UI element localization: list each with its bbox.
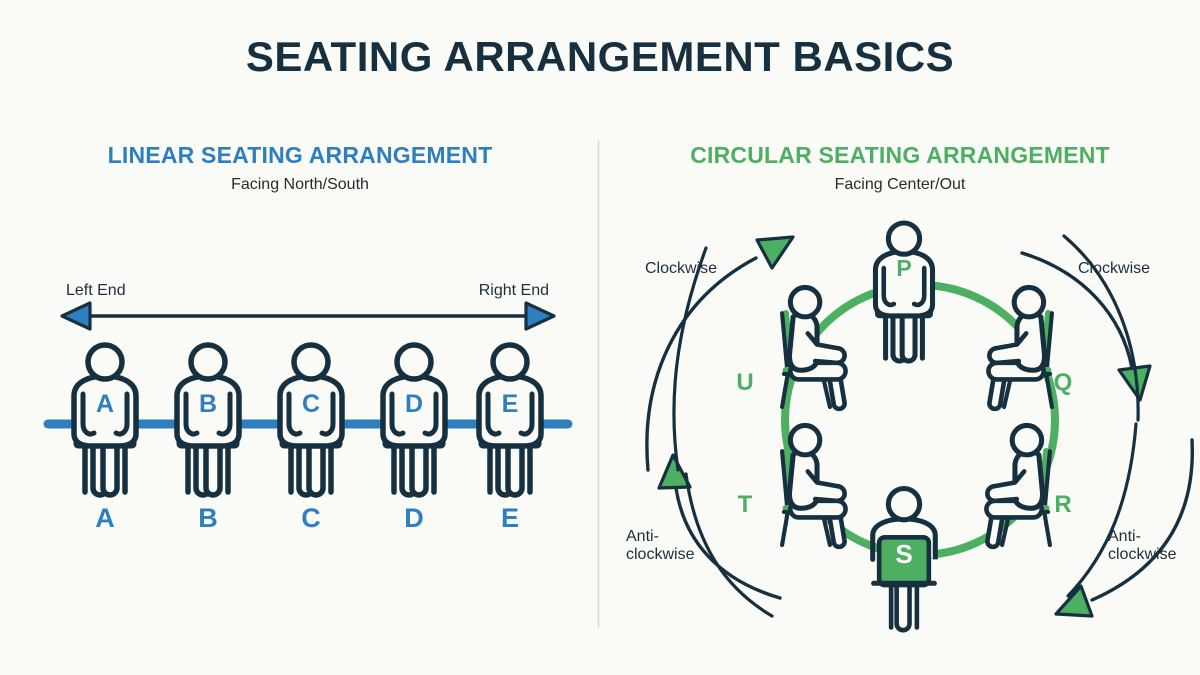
seat-letter-u: U [736, 369, 753, 396]
left-right-axis-arrow [62, 303, 554, 329]
arrow-head-left-icon [62, 303, 90, 329]
circular-seat-figure-r: R [986, 425, 1071, 546]
seat-body-letter-c: C [302, 390, 320, 418]
seat-body-letter-a: A [96, 390, 114, 418]
seat-letter-t: T [738, 491, 753, 518]
arrow-head-right-icon [526, 303, 554, 329]
seat-letter-s: S [895, 539, 912, 569]
diagram-canvas: SEATING ARRANGEMENT BASICS LINEAR SEATIN… [0, 0, 1200, 675]
circular-seat-figure-q: Q [988, 287, 1072, 408]
seat-letter-r: R [1054, 491, 1071, 518]
linear-seat-figure-b: B [177, 345, 239, 495]
seat-body-letter-e: E [502, 390, 519, 418]
inner-arc-right-upper [1064, 236, 1138, 420]
arrow-head-cw-left-icon [757, 237, 793, 268]
circular-arrangement-group: P Q R S T [647, 223, 1192, 630]
linear-arrangement-group: A B C D E [48, 303, 568, 495]
arrow-anticlockwise-right [1056, 440, 1192, 616]
linear-seat-figure-d: D [383, 345, 445, 495]
arrow-head-acw-left-icon [659, 455, 690, 488]
arrow-anticlockwise-left [659, 455, 780, 598]
seat-letter-p: P [896, 255, 911, 281]
circular-seat-figure-p: P [875, 223, 932, 361]
seat-letter-q: Q [1054, 369, 1073, 396]
inner-arc-left-upper [674, 248, 706, 470]
arrow-clockwise-left [647, 237, 793, 470]
linear-seat-figure-c: C [280, 345, 342, 495]
linear-seat-figure-e: E [479, 345, 541, 495]
circular-seat-figure-s: S [873, 489, 936, 631]
diagram-graphics: A B C D E [0, 0, 1200, 675]
circular-seat-figure-t: T [738, 425, 846, 546]
inner-arc-right-lower [1068, 424, 1136, 596]
linear-seat-figure-a: A [74, 345, 136, 495]
seat-body-letter-d: D [405, 390, 423, 418]
seat-body-letter-b: B [199, 390, 217, 418]
